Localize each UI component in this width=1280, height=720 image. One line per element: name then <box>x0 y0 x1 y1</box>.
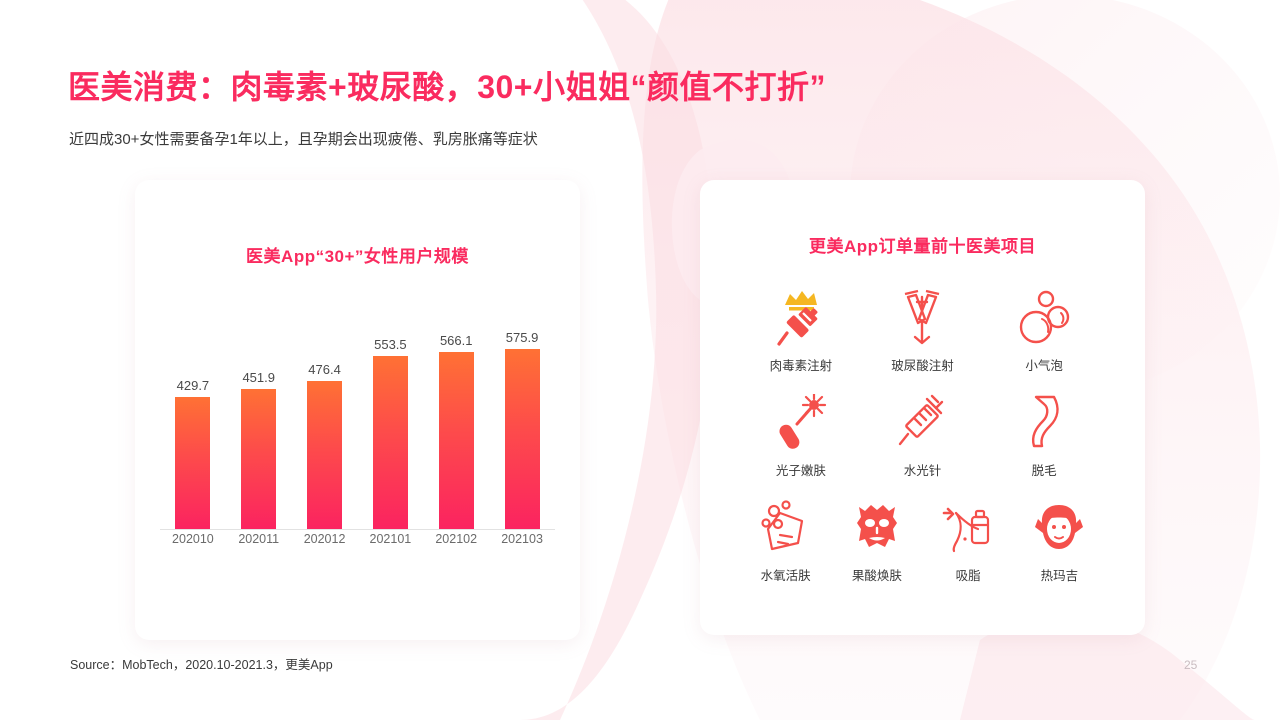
x-axis-tick: 202103 <box>491 532 553 546</box>
x-axis-tick: 202102 <box>425 532 487 546</box>
x-axis-labels: 202010 202011 202012 202101 202102 20210… <box>160 532 555 546</box>
x-axis-tick: 202012 <box>294 532 356 546</box>
x-axis-tick: 202010 <box>162 532 224 546</box>
icon-item-liposuction[interactable]: 吸脂 <box>923 495 1014 584</box>
x-axis-tick: 202101 <box>359 532 421 546</box>
page-title: 医美消费：肉毒素+玻尿酸，30+小姐姐“颜值不打折” <box>68 62 826 108</box>
face-mask-icon <box>849 495 905 561</box>
icon-label: 果酸焕肤 <box>852 565 902 584</box>
chart-card: 医美App“30+”女性用户规模 429.7 451.9 476.4 553.5… <box>135 180 580 640</box>
liposuction-icon <box>940 495 996 561</box>
crowned-syringe-icon <box>773 285 829 351</box>
icon-label: 肉毒素注射 <box>770 355 833 374</box>
bar <box>505 349 540 529</box>
icon-label: 水光针 <box>904 460 942 479</box>
bar <box>241 389 276 529</box>
bar <box>373 356 408 529</box>
leg-icon <box>1016 390 1072 456</box>
icon-row: 水氧活肤 果酸焕肤 <box>718 495 1127 584</box>
x-axis-tick: 202011 <box>228 532 290 546</box>
bar <box>175 397 210 529</box>
icon-label: 小气泡 <box>1025 355 1063 374</box>
chart-plot-area: 429.7 451.9 476.4 553.5 566.1 575.9 <box>160 330 555 530</box>
icon-item-hyaluronic[interactable]: 玻尿酸注射 <box>872 285 972 374</box>
bar-slot: 451.9 <box>228 330 290 529</box>
icon-item-thermage[interactable]: 热玛吉 <box>1014 495 1105 584</box>
icon-grid: 肉毒素注射 玻尿酸注射 <box>700 285 1145 600</box>
bar-slot: 575.9 <box>491 330 553 529</box>
icon-item-botox[interactable]: 肉毒素注射 <box>751 285 851 374</box>
double-syringe-icon <box>894 285 950 351</box>
icon-row: 光子嫩肤 水光针 <box>718 390 1127 479</box>
bar-slot: 566.1 <box>425 330 487 529</box>
icon-label: 热玛吉 <box>1041 565 1079 584</box>
icon-label: 玻尿酸注射 <box>891 355 954 374</box>
thermage-face-icon <box>1031 495 1087 561</box>
bar-value: 575.9 <box>506 331 539 344</box>
bar-chart: 429.7 451.9 476.4 553.5 566.1 575.9 <box>135 330 580 580</box>
icon-item-shuiguangzhen[interactable]: 水光针 <box>872 390 972 479</box>
bar-value: 566.1 <box>440 334 473 347</box>
bar-slot: 553.5 <box>359 330 421 529</box>
icon-label: 吸脂 <box>956 565 981 584</box>
bar-value: 451.9 <box>242 371 275 384</box>
icon-row: 肉毒素注射 玻尿酸注射 <box>718 285 1127 374</box>
bar <box>439 352 474 529</box>
icon-item-bubbles[interactable]: 小气泡 <box>994 285 1094 374</box>
bar <box>307 381 342 529</box>
source-note: Source：MobTech，2020.10-2021.3，更美App <box>70 654 333 673</box>
icon-item-photon[interactable]: 光子嫩肤 <box>751 390 851 479</box>
icon-label: 光子嫩肤 <box>776 460 826 479</box>
page-subtitle: 近四成30+女性需要备孕1年以上，且孕期会出现疲倦、乳房胀痛等症状 <box>69 128 538 149</box>
icon-item-aha[interactable]: 果酸焕肤 <box>831 495 922 584</box>
icon-item-oxygen[interactable]: 水氧活肤 <box>740 495 831 584</box>
bar-value: 553.5 <box>374 338 407 351</box>
icons-title: 更美App订单量前十医美项目 <box>700 232 1145 257</box>
laser-wand-icon <box>773 390 829 456</box>
bar-slot: 429.7 <box>162 330 224 529</box>
bar-value: 429.7 <box>177 379 210 392</box>
bubbles-icon <box>1016 285 1072 351</box>
bar-value: 476.4 <box>308 363 341 376</box>
icon-item-hairremoval[interactable]: 脱毛 <box>994 390 1094 479</box>
bar-slot: 476.4 <box>294 330 356 529</box>
chart-title: 医美App“30+”女性用户规模 <box>135 242 580 267</box>
icon-label: 水氧活肤 <box>761 565 811 584</box>
syringe-icon <box>894 390 950 456</box>
icons-card: 更美App订单量前十医美项目 <box>700 180 1145 635</box>
oxygen-tag-icon <box>758 495 814 561</box>
page-number: 25 <box>1184 658 1197 672</box>
icon-label: 脱毛 <box>1032 460 1057 479</box>
